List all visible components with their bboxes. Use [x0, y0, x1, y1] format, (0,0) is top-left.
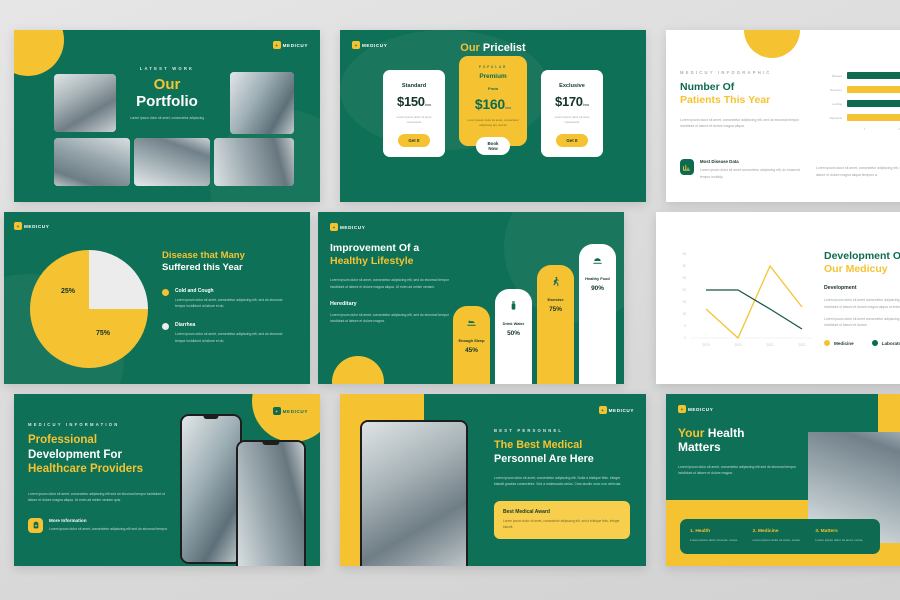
brand-logo: + MEDICUY: [599, 406, 634, 414]
decorative-yellow-circle: [252, 394, 320, 442]
brand-logo: + MEDICUY: [273, 407, 308, 415]
patients-footnote: Lorem ipsum dolor sit amet, consectetur …: [816, 165, 900, 178]
logo-mark-icon: +: [678, 405, 686, 413]
plan-description: Lorem ipsum dolor sit amet consectetur: [548, 115, 596, 125]
bar-fill: [847, 72, 900, 79]
bar-row: Payments: [816, 114, 900, 121]
legend-label: Cold and Cough: [175, 288, 292, 294]
development-subtitle: Development: [824, 285, 900, 291]
disease-text-block: Disease that Many Suffered this Year Col…: [162, 250, 292, 344]
disease-title-line2: Suffered this Year: [162, 262, 292, 274]
svg-text:2020: 2020: [734, 343, 741, 347]
bar-label: Exercise: [547, 297, 563, 302]
legend-dot-icon: [824, 340, 830, 346]
plan-price-value: $150: [397, 94, 425, 109]
bar-track: [847, 100, 900, 107]
portfolio-heading-block: LATEST WORK Our Portfolio Lorem ipsum do…: [112, 66, 222, 120]
bar-label: Disease: [816, 74, 842, 78]
legend-label: Medicine: [834, 341, 854, 346]
award-body: Lorem ipsum dolor sit amet, consectetur …: [503, 519, 621, 531]
plan-from-label: From: [466, 86, 520, 91]
running-icon: [550, 276, 561, 289]
slide-disease[interactable]: + MEDICUY 25% 75% Disease that Many Suff…: [4, 212, 310, 384]
info-title: More Information: [49, 518, 168, 523]
bar-label: Healthy Food: [585, 276, 610, 281]
decorative-yellow-circle: [14, 30, 64, 76]
bar-value: 50%: [507, 330, 520, 337]
phone-mockup-back: [180, 414, 242, 564]
phone-notch: [262, 442, 279, 445]
professional-title-line3: Healthcare Providers: [28, 462, 168, 477]
brand-logo: + MEDICUY: [273, 41, 308, 49]
phone-mockup-front: [236, 440, 306, 566]
bar-row: Lending: [816, 100, 900, 107]
portfolio-image-4: [134, 138, 210, 186]
svg-text:2022: 2022: [798, 343, 805, 347]
plan-price-period: /mo: [425, 102, 431, 107]
pricelist-title: Our Pricelist: [340, 42, 646, 54]
professional-text-block: MEDICUY INFORMATION Professional Develop…: [28, 422, 168, 533]
legend-item-laboratory: Laboratory: [872, 340, 900, 346]
patients-bar-chart: Disease Recovery Lending Payments 0 50 1…: [816, 72, 900, 131]
chart-icon: [680, 159, 694, 175]
svg-text:20: 20: [682, 288, 686, 292]
svg-text:25: 25: [682, 276, 686, 280]
pricing-card-standard[interactable]: Standard $150/mo Lorem ipsum dolor sit a…: [383, 70, 445, 157]
bar-label: Enough Sleep: [459, 338, 485, 343]
portfolio-image-5: [214, 138, 294, 186]
plan-name: Standard: [390, 83, 438, 89]
svg-text:10: 10: [682, 312, 686, 316]
more-information-block: More Information Lorem ipsum dolor sit a…: [28, 518, 168, 533]
slide-development[interactable]: + MEDICUY 0510 152025 3035 20192020 2021…: [656, 212, 900, 384]
legend-item-cold: Cold and Cough Lorem ipsum dolor sit ame…: [162, 288, 292, 310]
bar-column-water: Drink Water 50%: [495, 289, 532, 384]
health-title-yellow: Your: [678, 426, 708, 440]
patients-body: Lorem ipsum dolor sit amet, consectetur …: [680, 117, 808, 130]
slide-gallery: + MEDICUY LATEST WORK Our Portfolio Lore…: [0, 0, 900, 600]
bar-track: [847, 72, 900, 79]
plan-price-period: /mo: [505, 105, 511, 110]
plan-cta-button[interactable]: Book Now: [476, 137, 510, 155]
water-bottle-icon: [508, 300, 519, 313]
legend-label: Diarrhea: [175, 322, 292, 328]
pricelist-title-yellow: Our: [460, 42, 483, 54]
bar-fill: [847, 86, 900, 93]
disease-title-line1: Disease that Many: [162, 250, 292, 262]
svg-text:0: 0: [684, 336, 686, 340]
plan-price-period: /mo: [583, 102, 589, 107]
food-tray-icon: [592, 255, 603, 268]
health-title-line1: Your Health: [678, 426, 798, 440]
pricelist-title-white: Pricelist: [483, 42, 526, 54]
phone-notch: [203, 416, 218, 419]
lifestyle-title-line1: Improvement Of a: [330, 242, 450, 255]
plan-price: $150/mo: [390, 94, 438, 109]
legend-dot-icon: [162, 323, 169, 330]
feature-title: 2. Medicine: [753, 529, 808, 534]
brand-logo: + MEDICUY: [678, 405, 713, 413]
plan-price-value: $160: [475, 96, 505, 112]
pie-slice-label-diarrhea: 25%: [61, 288, 75, 295]
plan-price: $160/mo: [466, 96, 520, 112]
feature-card-matters: 3. Matters Lorem ipsum dolor sit amet, c…: [815, 529, 870, 544]
info-title: Most Disease Data: [700, 159, 808, 164]
svg-text:35: 35: [682, 252, 686, 256]
info-body: Lorem ipsum dolor sit amet consectetur a…: [700, 167, 808, 180]
health-feature-cards: 1. Health Lorem ipsum dolor sit amet, co…: [680, 519, 880, 554]
health-title-white: Health: [708, 426, 745, 440]
logo-mark-icon: +: [273, 407, 281, 415]
bar-track: [847, 114, 900, 121]
feature-body: Lorem ipsum dolor sit amet, conse: [753, 538, 808, 544]
feature-body: Lorem ipsum dolor sit amet, conse: [815, 538, 870, 544]
portfolio-title-line1: Our: [112, 77, 222, 94]
patients-title-line2: Patients This Year: [680, 94, 808, 107]
logo-mark-icon: +: [273, 41, 281, 49]
award-title: Best Medical Award: [503, 509, 621, 515]
plan-badge: POPULAR: [466, 65, 520, 69]
development-body-2: Lorem ipsum dolor sit amet consectetur a…: [824, 316, 900, 329]
plan-name: Premium: [466, 73, 520, 80]
bar-column-food: Healthy Food 90%: [579, 244, 616, 384]
slide-personnel[interactable]: + MEDICUY BEST PERSONNEL The Best Medica…: [340, 394, 646, 566]
bar-value: 45%: [465, 347, 478, 354]
health-title-line2: Matters: [678, 440, 798, 454]
lifestyle-title-line2: Healthy Lifestyle: [330, 255, 450, 268]
footnote-text: Lorem ipsum dolor sit amet, consectetur …: [816, 165, 900, 178]
personnel-text-block: BEST PERSONNEL The Best Medical Personne…: [494, 428, 630, 539]
bar-label: Drink Water: [503, 321, 525, 326]
legend-dot-icon: [872, 340, 878, 346]
personnel-kicker: BEST PERSONNEL: [494, 428, 630, 433]
feature-body: Lorem ipsum dolor sit amet, conse: [690, 538, 745, 544]
legend-desc: Lorem ipsum dolor sit amet, consectetur …: [175, 297, 292, 310]
professional-kicker: MEDICUY INFORMATION: [28, 422, 168, 427]
bar-value: 75%: [549, 306, 562, 313]
clipboard-icon: [28, 518, 43, 533]
portfolio-subtitle: Lorem ipsum dolor sit amet, consectetur …: [112, 116, 222, 120]
health-body: Lorem ipsum dolor sit amet, consectetur …: [678, 464, 798, 477]
svg-text:2019: 2019: [702, 343, 709, 347]
plan-description: Lorem ipsum dolor sit amet consectetur: [390, 115, 438, 125]
svg-text:2021: 2021: [766, 343, 773, 347]
logo-text: MEDICUY: [283, 43, 308, 48]
personnel-photo-frame: [360, 420, 468, 566]
info-body: Lorem ipsum dolor sit amet, consectetur …: [49, 526, 168, 532]
development-body-1: Lorem ipsum dolor sit amet consectetur a…: [824, 297, 900, 310]
lifestyle-subtitle: Hereditary: [330, 301, 450, 307]
feature-title: 1. Health: [690, 529, 745, 534]
plan-cta-button[interactable]: Get It: [398, 134, 429, 146]
phone-screen-image: [238, 442, 304, 566]
slide-lifestyle[interactable]: + MEDICUY Improvement Of a Healthy Lifes…: [318, 212, 624, 384]
brand-logo: + MEDICUY: [14, 222, 49, 230]
plan-price-value: $170: [555, 94, 583, 109]
lifestyle-body: Lorem ipsum dolor sit amet, consectetur …: [330, 277, 450, 290]
decorative-yellow-dome: [744, 30, 800, 58]
lifestyle-bar-chart: Enough Sleep 45% Drink Water 50% Exercis…: [453, 244, 616, 384]
logo-mark-icon: +: [330, 223, 338, 231]
plan-price: $170/mo: [548, 94, 596, 109]
svg-text:5: 5: [684, 324, 686, 328]
plan-name: Exclusive: [548, 83, 596, 89]
bar-column-exercise: Exercise 75%: [537, 265, 574, 384]
portfolio-image-1: [54, 74, 116, 132]
development-text-block: Development Of Our Medicuy Development L…: [824, 250, 900, 346]
pie-slice-label-cold: 75%: [96, 330, 110, 337]
personnel-title-line2: Personnel Are Here: [494, 453, 630, 467]
svg-text:30: 30: [682, 264, 686, 268]
logo-text: MEDICUY: [609, 408, 634, 413]
award-card: Best Medical Award Lorem ipsum dolor sit…: [494, 501, 630, 539]
logo-mark-icon: +: [14, 222, 22, 230]
slide-portfolio[interactable]: + MEDICUY LATEST WORK Our Portfolio Lore…: [14, 30, 320, 202]
logo-text: MEDICUY: [688, 407, 713, 412]
decorative-yellow-circle: [332, 356, 384, 384]
line-series-laboratory: [706, 290, 802, 329]
bar-value: 90%: [591, 285, 604, 292]
slide-pricelist[interactable]: + MEDICUY Our Pricelist Standard $150/mo…: [340, 30, 646, 202]
pricing-card-premium[interactable]: POPULAR Premium From $160/mo Lorem ipsum…: [459, 56, 527, 146]
portfolio-kicker: LATEST WORK: [112, 66, 222, 71]
lifestyle-sub-body: Lorem ipsum dolor sit amet, consectetur …: [330, 312, 450, 325]
development-title-line1: Development Of: [824, 250, 900, 263]
portfolio-title-line2: Portfolio: [112, 94, 222, 111]
professional-body: Lorem ipsum dolor sit amet, consectetur …: [28, 491, 168, 504]
feature-card-medicine: 2. Medicine Lorem ipsum dolor sit amet, …: [753, 529, 808, 544]
personnel-title-line1: The Best Medical: [494, 439, 630, 453]
bar-axis-ticks: 0 50 100: [816, 128, 900, 131]
professional-title-line1: Professional: [28, 433, 168, 448]
logo-mark-icon: +: [599, 406, 607, 414]
development-title-line2: Our Medicuy: [824, 263, 900, 276]
monitor-screen: [808, 432, 900, 524]
legend-item-medicine: Medicine: [824, 340, 854, 346]
axis-tick: 0: [864, 128, 865, 131]
development-line-chart: 0510 152025 3035 20192020 20212022: [664, 242, 814, 352]
bar-track: [847, 86, 900, 93]
pricing-card-exclusive[interactable]: Exclusive $170/mo Lorem ipsum dolor sit …: [541, 70, 603, 157]
line-chart-legend: Medicine Laboratory: [824, 340, 900, 346]
bar-label: Lending: [816, 102, 842, 106]
bar-fill: [847, 100, 900, 107]
slide-patients[interactable]: MEDICUY INFOGRAPHIC Number Of Patients T…: [666, 30, 900, 202]
svg-text:15: 15: [682, 300, 686, 304]
slide-health[interactable]: + MEDICUY Your Health Matters Lorem ipsu…: [666, 394, 900, 566]
plan-cta-button[interactable]: Get It: [556, 134, 587, 146]
disease-pie-chart: [30, 250, 148, 368]
personnel-photo: [362, 422, 466, 566]
legend-item-diarrhea: Diarrhea Lorem ipsum dolor sit amet, con…: [162, 322, 292, 344]
sleep-icon: [466, 317, 477, 330]
lifestyle-text-block: Improvement Of a Healthy Lifestyle Lorem…: [330, 242, 450, 324]
bar-fill: [847, 114, 900, 121]
legend-label: Laboratory: [882, 341, 900, 346]
line-series-medicine: [706, 266, 802, 338]
bar-label: Recovery: [816, 88, 842, 92]
bar-row: Disease: [816, 72, 900, 79]
health-text-block: Your Health Matters Lorem ipsum dolor si…: [678, 426, 798, 476]
legend-desc: Lorem ipsum dolor sit amet, consectetur …: [175, 331, 292, 344]
bar-column-sleep: Enough Sleep 45%: [453, 306, 490, 384]
monitor-screen-image: [808, 432, 900, 524]
logo-text: MEDICUY: [340, 225, 365, 230]
most-disease-data-block: Most Disease Data Lorem ipsum dolor sit …: [680, 159, 808, 180]
brand-logo: + MEDICUY: [330, 223, 365, 231]
legend-dot-icon: [162, 289, 169, 296]
patients-text-block: MEDICUY INFOGRAPHIC Number Of Patients T…: [680, 70, 808, 129]
pricing-cards: Standard $150/mo Lorem ipsum dolor sit a…: [340, 70, 646, 157]
feature-title: 3. Matters: [815, 529, 870, 534]
portfolio-image-2: [230, 72, 294, 134]
patients-title-line1: Number Of: [680, 81, 808, 94]
professional-title-line2: Development For: [28, 448, 168, 463]
plan-description: Lorem ipsum dolor sit amet, consectetur …: [466, 118, 520, 128]
phone-screen-image: [182, 416, 240, 562]
logo-text: MEDICUY: [24, 224, 49, 229]
bar-row: Recovery: [816, 86, 900, 93]
portfolio-image-3: [54, 138, 130, 186]
slide-professional[interactable]: + MEDICUY MEDICUY INFORMATION Profession…: [14, 394, 320, 566]
logo-text: MEDICUY: [283, 409, 308, 414]
feature-card-health: 1. Health Lorem ipsum dolor sit amet, co…: [690, 529, 745, 544]
patients-kicker: MEDICUY INFOGRAPHIC: [680, 70, 808, 75]
bar-label: Payments: [816, 116, 842, 120]
personnel-body: Lorem ipsum dolor sit amet, consectetur …: [494, 475, 630, 488]
